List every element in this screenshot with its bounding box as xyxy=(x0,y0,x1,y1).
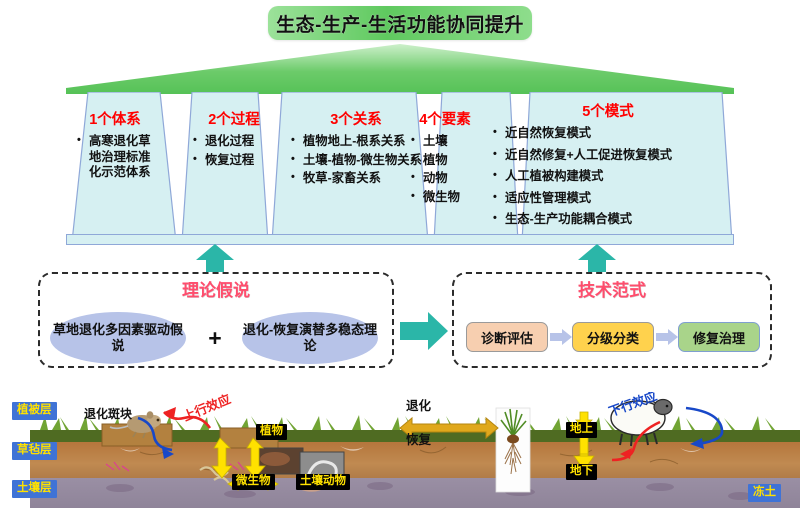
framework-column-3: 3个关系 植物地上-根系关系 土壤-植物-微生物关系 牧草-家畜关系 xyxy=(290,108,422,190)
list-item: 近自然修复+人工促进恢复模式 xyxy=(492,148,724,164)
soil-animal-label: 土壤动物 xyxy=(296,474,350,490)
column-4-heading: 4个要素 xyxy=(410,108,480,129)
column-1-heading: 1个体系 xyxy=(76,108,154,129)
arrow-right-flow-icon xyxy=(400,312,448,350)
theory-hypothesis-right: 退化-恢复演替多稳态理论 xyxy=(242,312,378,364)
diagram-root: 生态-生产-生活功能协同提升 1个体系 高寒退化草地治理标准化示范体系 xyxy=(0,0,800,510)
theory-panel-title: 理论假说 xyxy=(38,276,394,301)
list-item: 土壤 xyxy=(410,134,480,150)
layer-label-turf-mat: 草毡层 xyxy=(12,442,57,460)
column-3-heading: 3个关系 xyxy=(290,108,422,129)
tech-step-2: 分级分类 xyxy=(572,322,654,352)
list-item: 土壤-植物-微生物关系 xyxy=(290,153,422,169)
list-item: 生态-生产功能耦合模式 xyxy=(492,212,724,228)
framework-column-2: 2个过程 退化过程 恢复过程 xyxy=(192,108,276,171)
degraded-patch-label: 退化斑块 xyxy=(84,408,132,420)
list-item: 微生物 xyxy=(410,190,480,206)
column-2-heading: 2个过程 xyxy=(192,108,276,129)
tech-step-3: 修复治理 xyxy=(678,322,760,352)
arrow-up-theory-icon xyxy=(196,244,234,274)
column-2-list: 退化过程 恢复过程 xyxy=(192,134,276,168)
list-item: 植物 xyxy=(410,153,480,169)
plant-label: 植物 xyxy=(256,424,287,440)
framework-base-bar xyxy=(66,234,734,245)
list-item: 近自然恢复模式 xyxy=(492,126,724,142)
tech-arrow-1-icon xyxy=(550,329,572,345)
main-title-pill: 生态-生产-生活功能协同提升 xyxy=(268,6,532,40)
framework-column-5: 5个模式 近自然恢复模式 近自然修复+人工促进恢复模式 人工植被构建模式 适应性… xyxy=(492,100,724,234)
column-5-list: 近自然恢复模式 近自然修复+人工促进恢复模式 人工植被构建模式 适应性管理模式 … xyxy=(492,126,724,228)
layer-label-soil: 土壤层 xyxy=(12,480,57,498)
tech-step-1: 诊断评估 xyxy=(466,322,548,352)
frozen-soil-label: 冻土 xyxy=(748,484,781,502)
list-item: 牧草-家畜关系 xyxy=(290,171,422,187)
main-title-text: 生态-生产-生活功能协同提升 xyxy=(276,10,524,37)
list-item: 恢复过程 xyxy=(192,153,276,169)
restoration-label: 恢复 xyxy=(406,434,431,447)
below-ground-label: 地下 xyxy=(566,464,597,480)
plus-operator: + xyxy=(198,325,232,352)
plant-with-roots-illustration xyxy=(496,408,530,492)
framework-column-1: 1个体系 高寒退化草地治理标准化示范体系 xyxy=(76,108,154,184)
framework-column-4: 4个要素 土壤 植物 动物 微生物 xyxy=(410,108,480,208)
grassland-cross-section-scene: 植被层 草毡层 土壤层 退化斑块 上行效应 下行效应 植物 微生物 土壤动物 退… xyxy=(0,392,800,510)
column-5-heading: 5个模式 xyxy=(492,100,724,121)
list-item: 退化过程 xyxy=(192,134,276,150)
column-1-list: 高寒退化草地治理标准化示范体系 xyxy=(76,134,154,181)
column-4-list: 土壤 植物 动物 微生物 xyxy=(410,134,480,205)
tech-panel-title: 技术范式 xyxy=(452,276,772,301)
theory-hypothesis-left: 草地退化多因素驱动假说 xyxy=(50,312,186,364)
column-3-list: 植物地上-根系关系 土壤-植物-微生物关系 牧草-家畜关系 xyxy=(290,134,422,187)
list-item: 高寒退化草地治理标准化示范体系 xyxy=(76,134,154,181)
tech-arrow-2-icon xyxy=(656,329,678,345)
list-item: 人工植被构建模式 xyxy=(492,169,724,185)
list-item: 动物 xyxy=(410,171,480,187)
layer-label-vegetation: 植被层 xyxy=(12,402,57,420)
green-pediment xyxy=(66,44,734,94)
above-ground-label: 地上 xyxy=(566,422,597,438)
arrow-up-tech-icon xyxy=(578,244,616,274)
degradation-label: 退化 xyxy=(406,400,431,413)
list-item: 植物地上-根系关系 xyxy=(290,134,422,150)
microbe-label: 微生物 xyxy=(232,474,275,490)
list-item: 适应性管理模式 xyxy=(492,191,724,207)
